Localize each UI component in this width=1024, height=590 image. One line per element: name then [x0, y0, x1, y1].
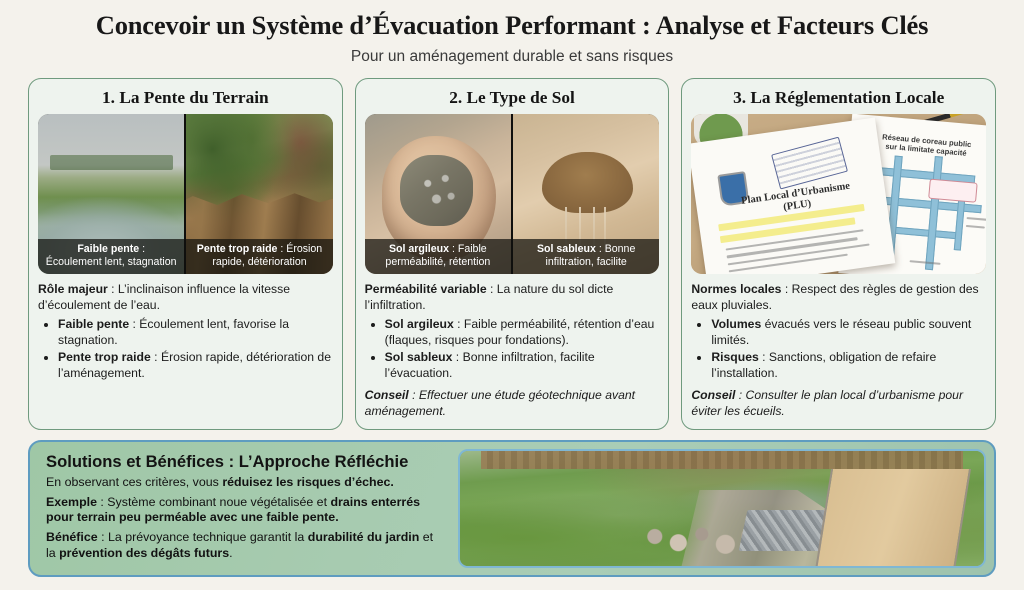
panel-slope-image-pair: Faible pente : Écoulement lent, stagnati… — [38, 114, 333, 274]
caption-bold: Sol argileux — [389, 243, 449, 255]
page-title: Concevoir un Système d’Évacuation Perfor… — [0, 11, 1024, 41]
caption-rest: : Faible — [449, 243, 487, 255]
panel-title-soil: 2. Le Type de Sol — [365, 88, 660, 107]
para2-bold-a: Exemple — [46, 495, 97, 509]
caption-line2: Écoulement lent, stagnation — [46, 256, 177, 268]
garden-path-artwork — [815, 469, 971, 568]
panel-soil-bullets: Sol argileux : Faible perméabilité, réte… — [365, 317, 660, 381]
panel-regulation-body: Normes locales : Respect des règles de g… — [691, 282, 986, 420]
solutions-panel: Solutions et Bénéfices : L’Approche Réfl… — [28, 440, 996, 577]
map-label — [966, 217, 986, 222]
para3-bold-a: Bénéfice — [46, 530, 98, 544]
solutions-text-block: Solutions et Bénéfices : L’Approche Réfl… — [38, 449, 448, 568]
solutions-paragraph-3: Bénéfice : La prévoyance technique garan… — [46, 530, 444, 562]
panel-slope-bullets: Faible pente : Écoulement lent, favorise… — [38, 317, 333, 381]
list-item: Pente trop raide : Érosion rapide, détér… — [58, 350, 333, 382]
caption-rest: : Bonne — [596, 243, 635, 255]
panel-regulation-lead: Normes locales : Respect des règles de g… — [691, 282, 986, 314]
para3-bold-c: prévention des dégâts futurs — [59, 546, 229, 560]
caption-bold: Faible pente — [77, 243, 139, 255]
page-subtitle: Pour un aménagement durable et sans risq… — [0, 48, 1024, 65]
list-item: Sol sableux : Bonne infiltration, facili… — [385, 350, 660, 382]
panel-soil-body: Perméabilité variable : La nature du sol… — [365, 282, 660, 420]
panel-slope-lead: Rôle majeur : L’inclinaison influence la… — [38, 282, 333, 314]
bullet-bold: Risques — [711, 350, 758, 364]
capacity-callout — [927, 178, 977, 202]
para2-plain-a: : Système combinant noue végétalisée et — [97, 495, 331, 509]
panel-soil-lead: Perméabilité variable : La nature du sol… — [365, 282, 660, 314]
fence-artwork — [481, 451, 963, 469]
lead-bold: Perméabilité variable — [365, 282, 487, 296]
list-item: Faible pente : Écoulement lent, favorise… — [58, 317, 333, 349]
municipal-stamp-icon — [771, 136, 848, 189]
panel-soil-image-pair: Sol argileux : Faible perméabilité, réte… — [365, 114, 660, 274]
panel-regulation-tip: Conseil : Consulter le plan local d’urba… — [691, 388, 986, 420]
clay-soil-caption: Sol argileux : Faible perméabilité, réte… — [365, 239, 511, 274]
list-item: Risques : Sanctions, obligation de refai… — [711, 350, 986, 382]
plu-document-sheet: Plan Local d’Urbanisme (PLU) — [691, 117, 895, 273]
eroded-slope-photo: Pente trop raide : Érosion rapide, détér… — [184, 114, 332, 274]
para1-bold-a: réduisez les risques d’échec. — [222, 475, 394, 489]
solutions-title: Solutions et Bénéfices : L’Approche Réfl… — [46, 452, 444, 471]
sandy-soil-caption: Sol sableux : Bonne infiltration, facili… — [513, 239, 659, 274]
caption-line2: perméabilité, rétention — [385, 256, 490, 268]
panel-title-regulation: 3. La Réglementation Locale — [691, 88, 986, 107]
para1-plain-a: En observant ces critères, vous — [46, 475, 222, 489]
eroded-slope-caption: Pente trop raide : Érosion rapide, détér… — [186, 239, 332, 274]
panel-slope-body: Rôle majeur : L’inclinaison influence la… — [38, 282, 333, 383]
header: Concevoir un Système d’Évacuation Perfor… — [0, 0, 1024, 65]
bullet-bold: Sol argileux — [385, 317, 454, 331]
solutions-paragraph-1: En observant ces critères, vous réduisez… — [46, 475, 444, 491]
panel-regulation-bullets: Volumes évacués vers le réseau public so… — [691, 317, 986, 381]
plu-document-photo: Réseau de coreau public sur la limitate … — [691, 114, 986, 274]
para3-plain-c: . — [229, 546, 232, 560]
infographic-page: Concevoir un Système d’Évacuation Perfor… — [0, 0, 1024, 590]
caption-rest: : — [139, 243, 145, 255]
map-label — [965, 225, 985, 229]
panel-soil-tip: Conseil : Effectuer une étude géotechniq… — [365, 388, 660, 420]
panel-slope: 1. La Pente du Terrain Faible pente : Éc… — [28, 78, 343, 430]
panel-regulation: 3. La Réglementation Locale Réseau de co… — [681, 78, 996, 430]
flooded-lawn-caption: Faible pente : Écoulement lent, stagnati… — [38, 239, 184, 274]
caption-rest: : Érosion — [277, 243, 322, 255]
lead-bold: Rôle majeur — [38, 282, 108, 296]
flooded-lawn-photo: Faible pente : Écoulement lent, stagnati… — [38, 114, 184, 274]
panel-soil: 2. Le Type de Sol Sol argileux : Faible … — [355, 78, 670, 430]
caption-line2: rapide, détérioration — [212, 256, 306, 268]
solutions-paragraph-2: Exemple : Système combinant noue végétal… — [46, 495, 444, 527]
list-item: Sol argileux : Faible perméabilité, réte… — [385, 317, 660, 349]
bullet-bold: Pente trop raide — [58, 350, 151, 364]
clay-soil-hand-photo: Sol argileux : Faible perméabilité, réte… — [365, 114, 511, 274]
bullet-bold: Sol sableux — [385, 350, 453, 364]
tip-bold: Conseil — [365, 388, 409, 402]
tip-bold: Conseil — [691, 388, 735, 402]
caption-bold: Sol sableux — [537, 243, 596, 255]
caption-line2: infiltration, facilite — [546, 256, 627, 268]
para3-bold-b: durabilité du jardin — [308, 530, 420, 544]
rain-garden-swale-photo — [458, 449, 986, 568]
bullet-bold: Volumes — [711, 317, 761, 331]
sandy-soil-hand-photo: Sol sableux : Bonne infiltration, facili… — [511, 114, 659, 274]
lead-bold: Normes locales — [691, 282, 781, 296]
para3-plain-a: : La prévoyance technique garantit la — [98, 530, 308, 544]
bullet-bold: Faible pente — [58, 317, 129, 331]
caption-bold: Pente trop raide — [197, 243, 278, 255]
panel-title-slope: 1. La Pente du Terrain — [38, 88, 333, 107]
list-item: Volumes évacués vers le réseau public so… — [711, 317, 986, 349]
panels-row: 1. La Pente du Terrain Faible pente : Éc… — [0, 65, 1024, 430]
